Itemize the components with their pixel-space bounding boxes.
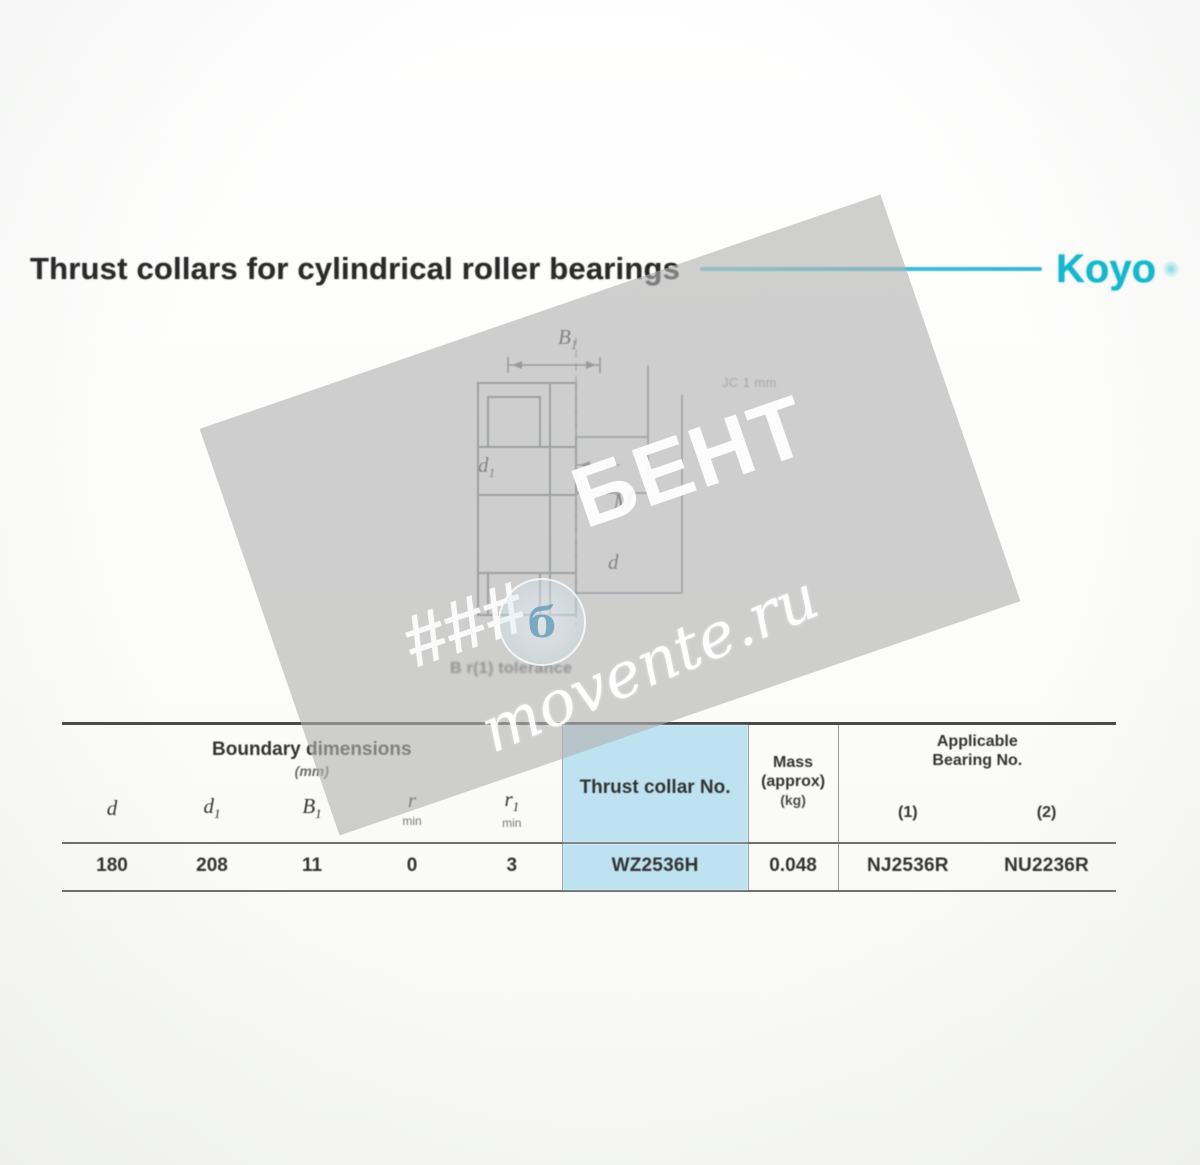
column-header-bearing-2: (2) — [977, 783, 1116, 843]
group-header-boundary-dimensions: Boundary dimensions (mm) — [62, 724, 562, 783]
column-header-d1: d1 — [162, 783, 262, 843]
dimension-label-d: d — [608, 550, 619, 575]
column-header-r-min: r min — [362, 783, 462, 843]
group-header-applicable-bearing-no: Applicable Bearing No. — [838, 724, 1116, 783]
column-header-d: d — [62, 783, 162, 843]
column-header-bearing-1: (1) — [838, 783, 977, 843]
cell-bearing-no-1[interactable]: NJ2536R — [838, 843, 977, 891]
bearing-cross-section-svg — [430, 325, 850, 695]
cell-thrust-collar-no[interactable]: WZ2536H — [562, 843, 748, 891]
drawing-note-annotation: JC 1 mm — [722, 375, 777, 390]
cell-r1: 3 — [462, 843, 562, 891]
cell-d1: 208 — [162, 843, 262, 891]
koyo-brand-logo: Koyo — [1056, 247, 1162, 292]
group-header-thrust-collar-no: Thrust collar No. — [562, 724, 748, 843]
page-title: Thrust collars for cylindrical roller be… — [30, 251, 680, 287]
dimension-label-d1: d1 — [478, 453, 495, 481]
cell-b1: 11 — [262, 843, 362, 891]
technical-drawing: B1 d1 M d JC 1 mm B r(1) tolerance — [430, 325, 850, 695]
specification-table-wrapper: Boundary dimensions (mm) Thrust collar N… — [62, 722, 1116, 892]
cell-mass: 0.048 — [748, 843, 838, 891]
table-row[interactable]: 180 208 11 0 3 WZ2536H 0.048 NJ2536R NU2… — [62, 843, 1116, 891]
cell-r: 0 — [362, 843, 462, 891]
column-header-b1: B1 — [262, 783, 362, 843]
drawing-caption: B r(1) tolerance — [450, 660, 572, 678]
brand-logo-edge-dot — [1162, 260, 1180, 278]
cell-d: 180 — [62, 843, 162, 891]
specification-table: Boundary dimensions (mm) Thrust collar N… — [62, 722, 1116, 892]
cell-bearing-no-2[interactable]: NU2236R — [977, 843, 1116, 891]
dimension-label-b1: B1 — [558, 325, 577, 353]
catalog-page: Thrust collars for cylindrical roller be… — [0, 0, 1200, 1165]
title-divider-rule — [700, 267, 1042, 271]
table-group-header-row: Boundary dimensions (mm) Thrust collar N… — [62, 724, 1116, 783]
catalog-header: Thrust collars for cylindrical roller be… — [30, 238, 1180, 300]
group-header-mass: Mass (approx) (kg) — [748, 724, 838, 843]
dimension-label-m: M — [613, 490, 633, 517]
column-header-r1-min: r1 min — [462, 783, 562, 843]
